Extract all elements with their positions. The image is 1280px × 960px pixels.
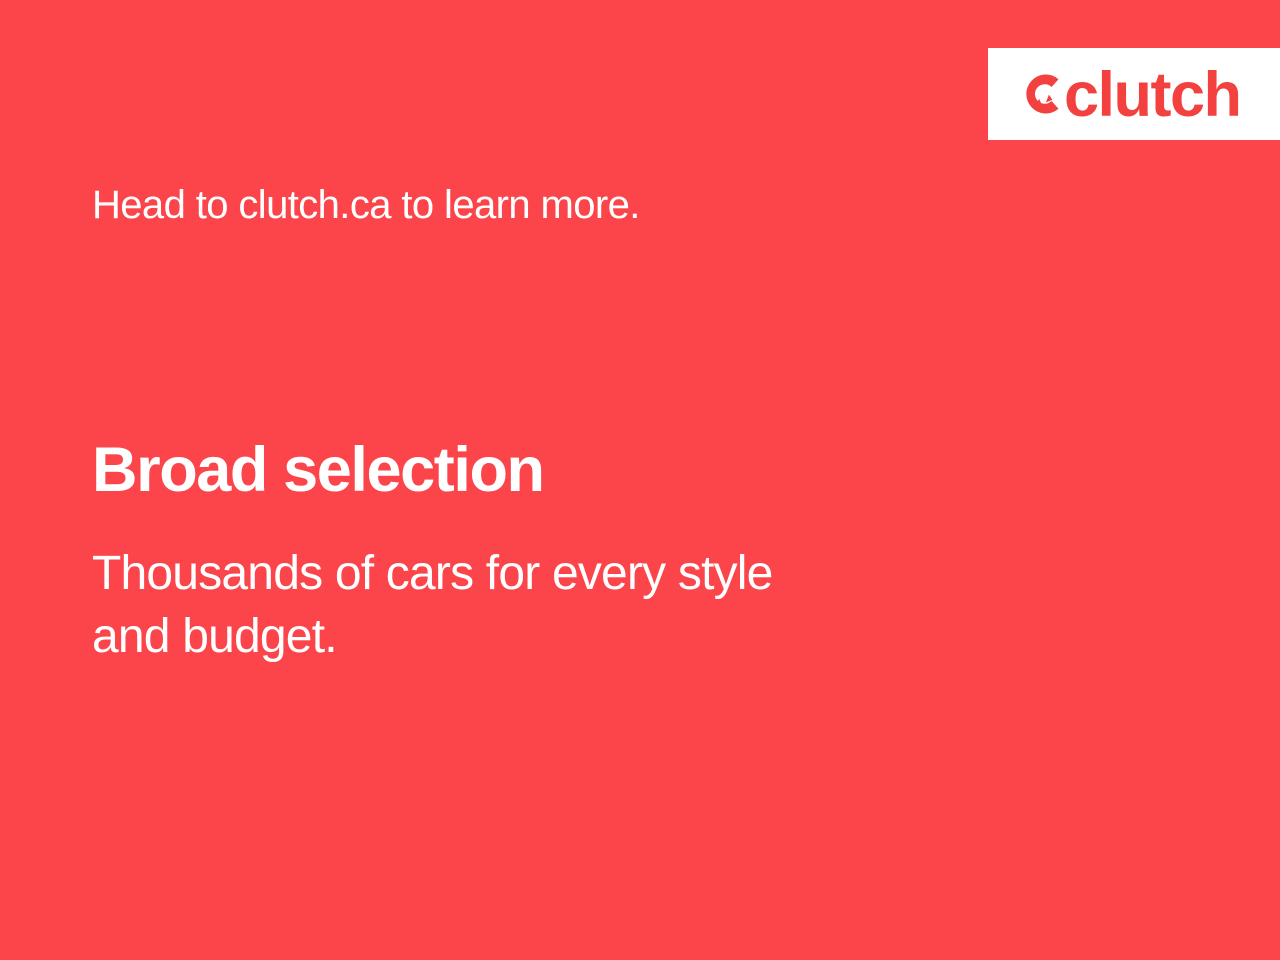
subhead-line-2: and budget. [92,610,337,663]
headline: Broad selection [92,436,544,505]
eyebrow-text: Head to clutch.ca to learn more. [92,180,640,230]
promo-slide: clutch Head to clutch.ca to learn more. … [0,0,1280,960]
subhead: Thousands of cars for every style and bu… [92,542,1052,669]
clutch-logo-lockup: clutch [1018,66,1241,122]
clutch-plate-mark-icon [1018,69,1064,119]
subhead-line-1: Thousands of cars for every style [92,547,773,600]
clutch-wordmark: clutch [1064,64,1241,127]
clutch-logo-badge[interactable]: clutch [988,48,1280,140]
